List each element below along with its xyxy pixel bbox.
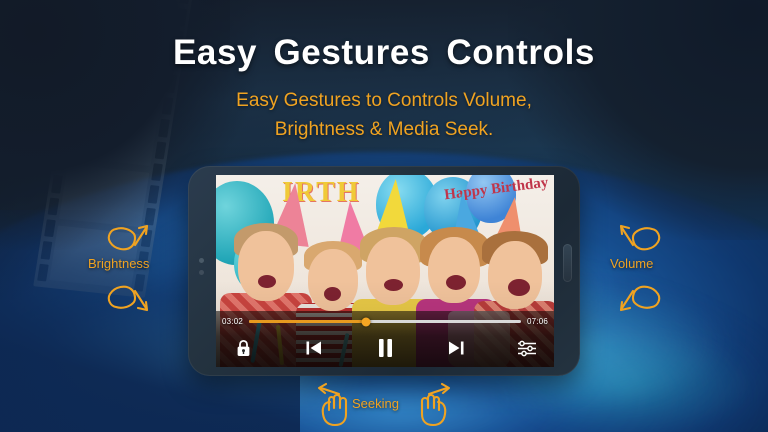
page-subtitle: Easy Gestures to Controls Volume, Bright… <box>0 86 768 144</box>
pause-button[interactable] <box>368 334 402 362</box>
seek-bar-thumb[interactable] <box>361 317 370 326</box>
equalizer-icon <box>517 340 537 357</box>
total-time-label: 07:06 <box>527 317 548 326</box>
subtitle-line-1: Easy Gestures to Controls Volume, <box>0 86 768 115</box>
phone-screen[interactable]: IRTH Happy Birthday <box>216 175 554 367</box>
subtitle-line-2: Brightness & Media Seek. <box>0 115 768 144</box>
volume-label: Volume <box>610 256 653 271</box>
player-button-row <box>226 331 544 365</box>
seek-bar-fill <box>249 320 366 323</box>
brightness-swipe-down-icon <box>104 278 156 314</box>
equalizer-button[interactable] <box>510 334 544 362</box>
promo-screenshot: Easy Gestures Controls Easy Gestures to … <box>0 0 768 432</box>
current-time-label: 03:02 <box>222 317 243 326</box>
volume-swipe-up-icon <box>612 222 664 258</box>
next-track-icon <box>447 339 465 357</box>
previous-button[interactable] <box>297 334 331 362</box>
previous-track-icon <box>305 339 323 357</box>
seek-forward-icon <box>412 382 452 428</box>
volume-swipe-down-icon <box>612 278 664 314</box>
next-button[interactable] <box>439 334 473 362</box>
phone-mockup: IRTH Happy Birthday <box>188 166 580 376</box>
seek-backward-icon <box>316 382 356 428</box>
player-controls-bar: 03:02 07:06 <box>216 311 554 367</box>
power-button[interactable] <box>563 244 572 282</box>
lock-button[interactable] <box>226 334 260 362</box>
pause-icon <box>377 338 394 358</box>
brightness-label: Brightness <box>88 256 149 271</box>
front-camera-icon <box>199 258 204 263</box>
seek-bar[interactable] <box>249 320 521 323</box>
lock-icon <box>236 339 251 357</box>
brightness-swipe-up-icon <box>104 222 156 258</box>
seeking-label: Seeking <box>352 396 399 411</box>
page-title: Easy Gestures Controls <box>0 33 768 73</box>
seek-row: 03:02 07:06 <box>222 317 548 326</box>
